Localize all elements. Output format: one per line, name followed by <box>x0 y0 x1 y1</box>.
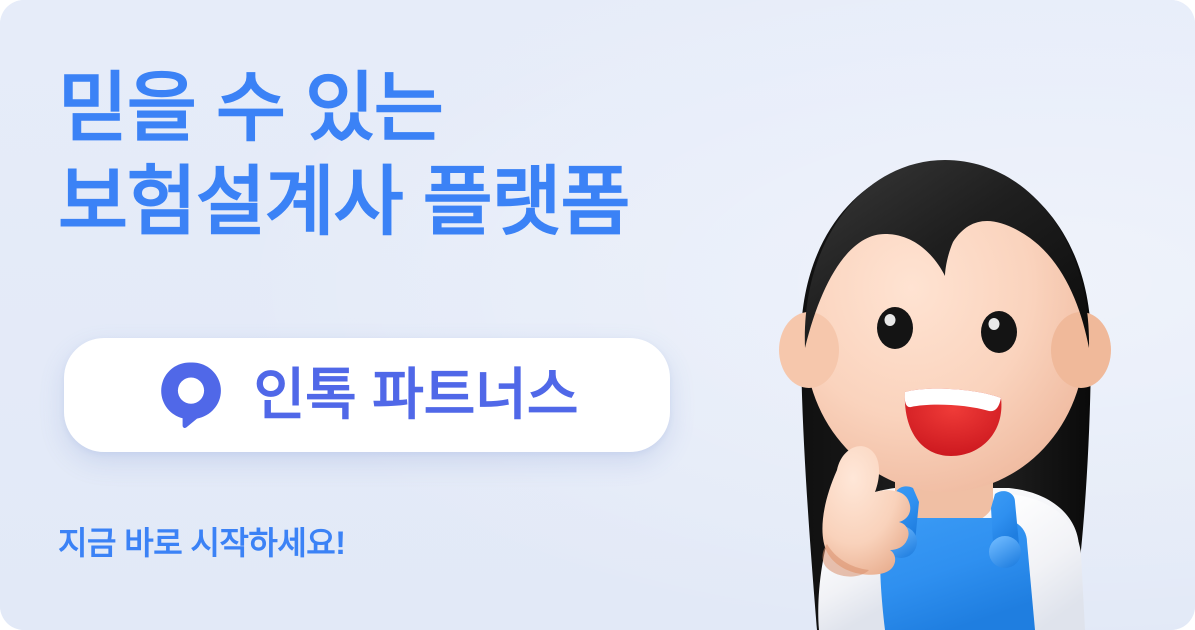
brand-logo-pill[interactable]: 인톡 파트너스 <box>64 338 670 452</box>
smiling-woman-thumbs-up-3d-character <box>709 110 1179 630</box>
promo-banner: 믿을 수 있는 보험설계사 플랫폼 지금 바로 시작하세요! 인톡 파트너스 <box>0 0 1195 630</box>
page-title: 믿을 수 있는 보험설계사 플랫폼 <box>58 62 629 250</box>
headline-line-2: 보험설계사 플랫폼 <box>58 156 629 250</box>
intalk-chat-bubble-logo-icon <box>156 359 228 431</box>
headline-line-1: 믿을 수 있는 <box>58 62 629 156</box>
brand-name-label: 인톡 파트너스 <box>254 367 579 423</box>
cta-caption: 지금 바로 시작하세요! <box>58 518 345 564</box>
text-content-column: 믿을 수 있는 보험설계사 플랫폼 지금 바로 시작하세요! <box>58 0 778 630</box>
